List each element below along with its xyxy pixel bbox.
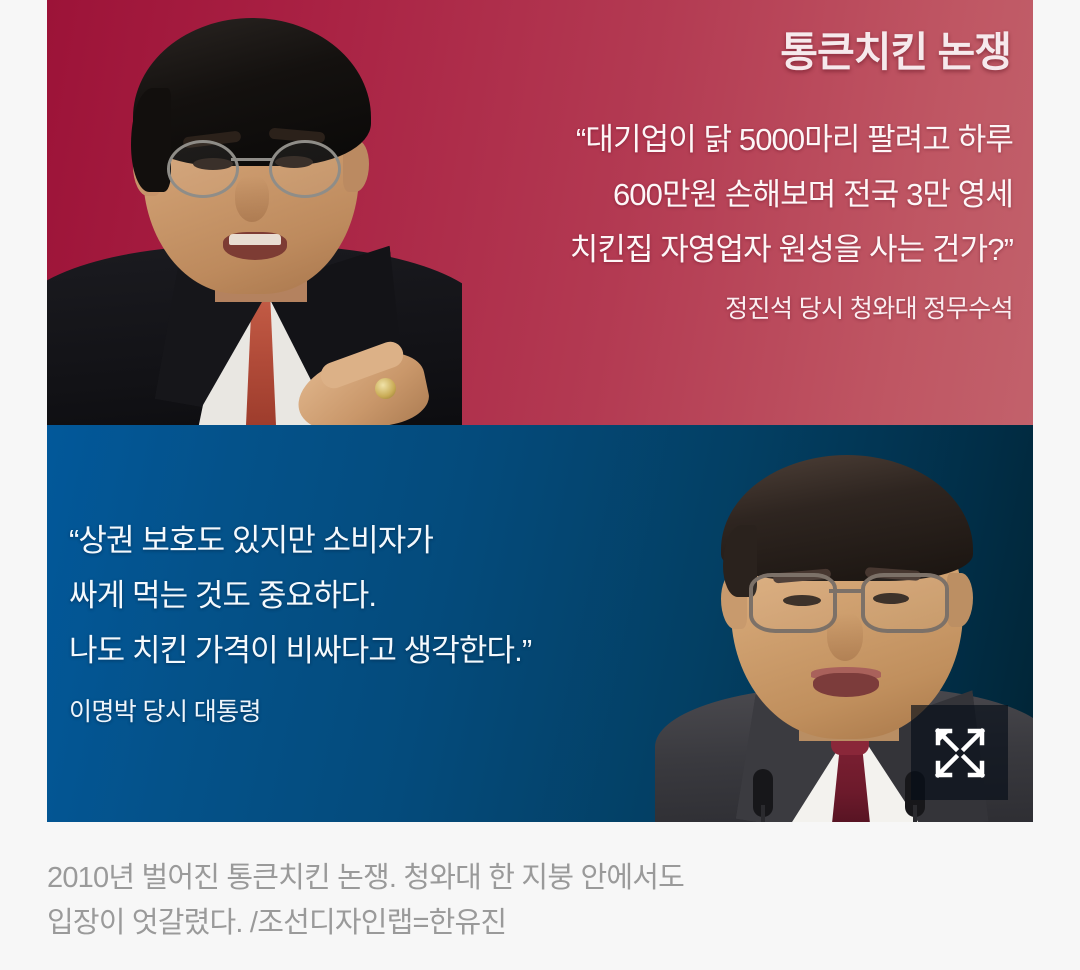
quote-line: 치킨집 자영업자 원성을 사는 건가?” (393, 222, 1013, 277)
nose-shape (235, 176, 269, 222)
quote-block-bottom: “상권 보호도 있지만 소비자가 싸게 먹는 것도 중요하다. 나도 치킨 가격… (69, 513, 719, 728)
caption-line: 2010년 벌어진 통큰치킨 논쟁. 청와대 한 지붕 안에서도 (47, 856, 1007, 901)
quote-block-top: “대기업이 닭 5000마리 팔려고 하루 600만원 손해보며 전국 3만 영… (393, 112, 1013, 325)
page-title: 통큰치킨 논쟁 (780, 18, 1011, 78)
microphone-right-stem (913, 805, 917, 822)
glasses-bridge (829, 589, 863, 593)
quote-attribution: 이명박 당시 대통령 (69, 692, 719, 728)
quote-line: 600만원 손해보며 전국 3만 영세 (393, 167, 1013, 222)
expand-fullscreen-button[interactable] (911, 705, 1008, 800)
hair-shape (721, 455, 973, 581)
nose-shape (827, 613, 863, 661)
lens-left (749, 573, 837, 633)
teeth-shape (229, 234, 281, 245)
quote-attribution: 정진석 당시 청와대 정무수석 (393, 289, 1013, 325)
bottom-blue-panel: “상권 보호도 있지만 소비자가 싸게 먹는 것도 중요하다. 나도 치킨 가격… (47, 425, 1033, 822)
quote-line: 싸게 먹는 것도 중요하다. (69, 568, 719, 623)
lens-right (861, 573, 949, 633)
quote-line: “상권 보호도 있지만 소비자가 (69, 513, 719, 568)
caption-line: 입장이 엇갈렸다. /조선디자인랩=한유진 (47, 901, 1007, 946)
lapel-badge-icon (375, 378, 396, 399)
top-red-panel: 통큰치킨 논쟁 “대기업이 닭 5000마리 팔려고 하루 600만원 손해보며… (47, 0, 1033, 425)
infographic-image[interactable]: 통큰치킨 논쟁 “대기업이 닭 5000마리 팔려고 하루 600만원 손해보며… (47, 0, 1033, 822)
glasses-bridge (231, 158, 273, 161)
quote-line: “대기업이 닭 5000마리 팔려고 하루 (393, 112, 1013, 167)
expand-arrows-icon (931, 724, 989, 782)
image-caption: 2010년 벌어진 통큰치킨 논쟁. 청와대 한 지붕 안에서도 입장이 엇갈렸… (47, 856, 1007, 946)
microphone-left-stem (761, 805, 765, 822)
lens-left (167, 140, 239, 198)
mouth-shape (813, 673, 879, 697)
page-root: 통큰치킨 논쟁 “대기업이 닭 5000마리 팔려고 하루 600만원 손해보며… (0, 0, 1080, 970)
lens-right (269, 140, 341, 198)
ear-right (947, 573, 973, 627)
quote-line: 나도 치킨 가격이 비싸다고 생각한다.” (69, 623, 719, 678)
